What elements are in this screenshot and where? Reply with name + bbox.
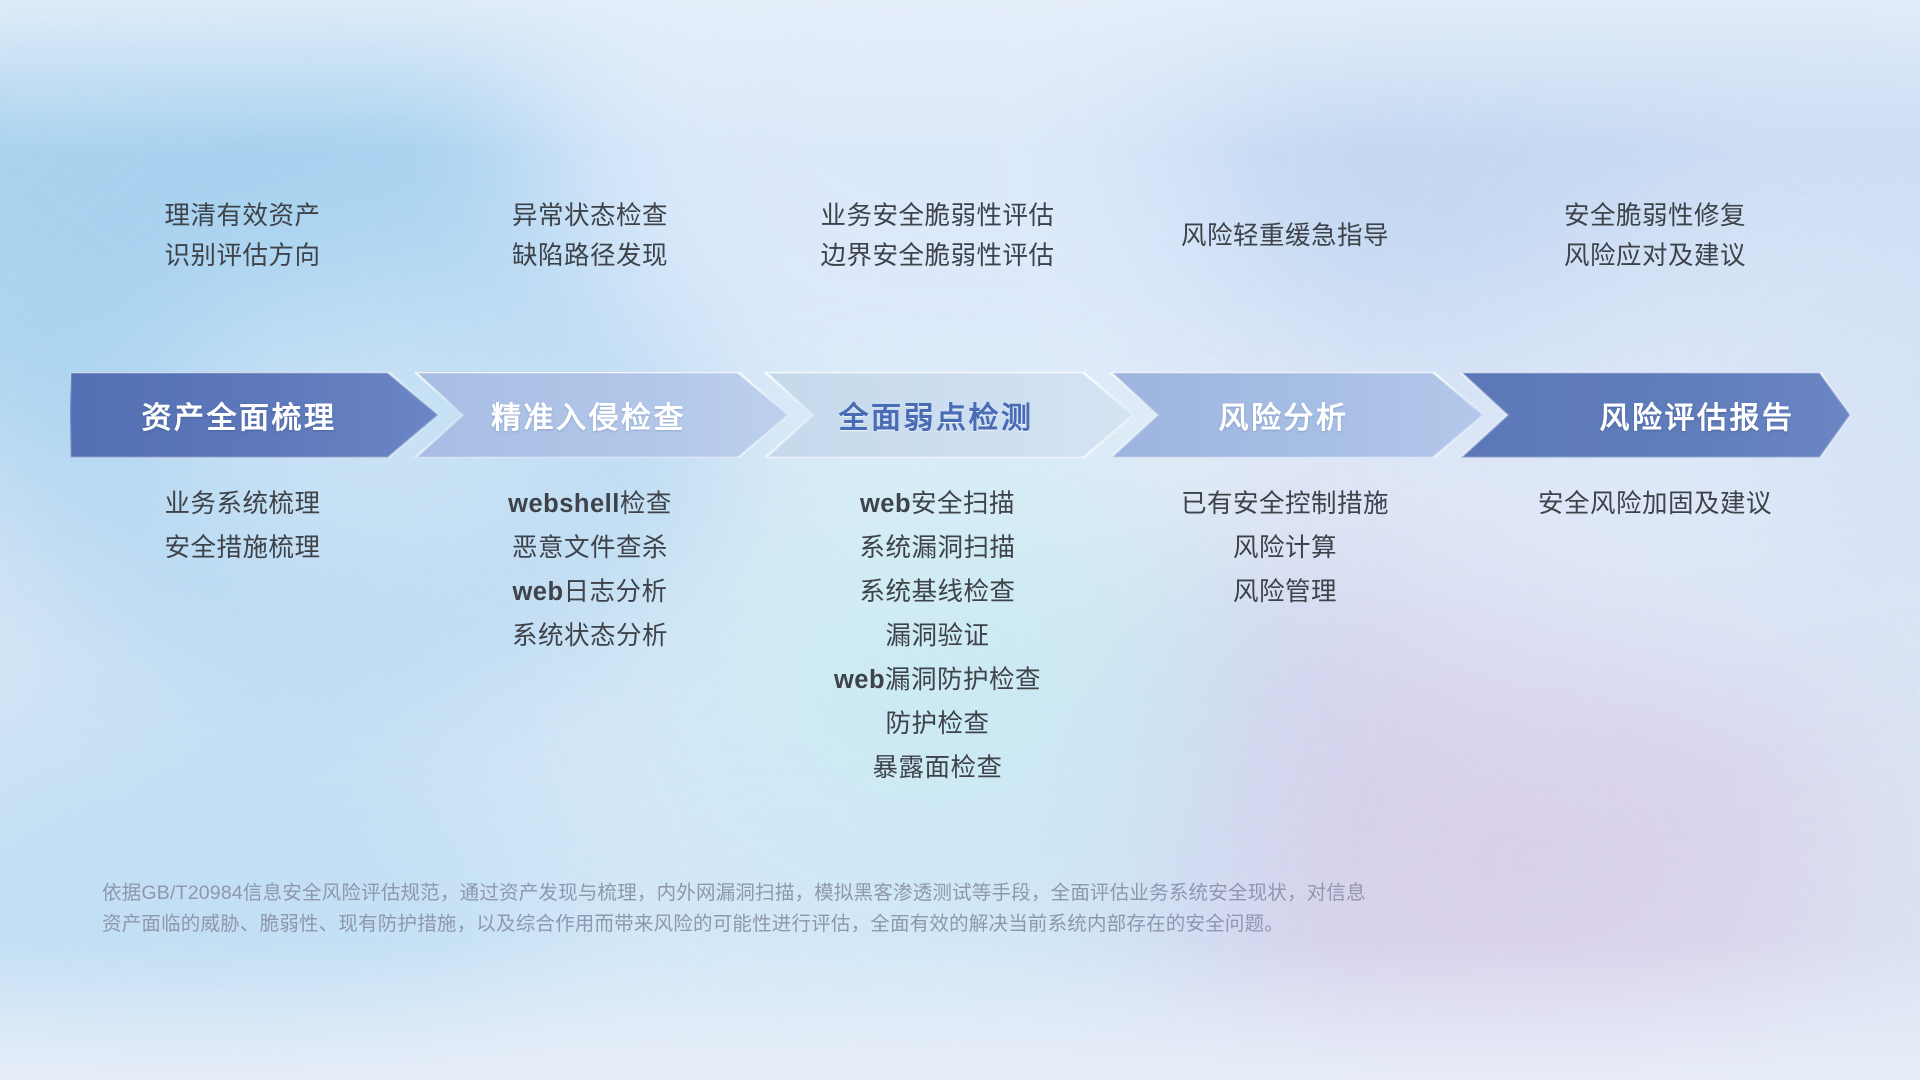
bottom-labels-stage-5: 安全风险加固及建议: [1460, 490, 1850, 518]
bottom-labels-stage-1: 业务系统梳理 安全措施梳理: [70, 490, 415, 562]
footer-line-1: 依据GB/T20984信息安全风险评估规范，通过资产发现与梳理，内外网漏洞扫描，…: [102, 878, 1602, 909]
top-labels-stage-4: 风险轻重缓急指导: [1110, 182, 1460, 290]
top-labels-stage-3: 业务安全脆弱性评估 边界安全脆弱性评估: [765, 182, 1110, 290]
top-label: 边界安全脆弱性评估: [820, 241, 1054, 271]
process-stage-arrow-2[interactable]: 精准入侵检查: [415, 372, 788, 458]
stage-title: 风险评估报告: [1460, 393, 1850, 437]
bottom-label-text: 安全扫描: [911, 490, 1015, 518]
bottom-label: 系统漏洞扫描: [859, 534, 1015, 562]
bottom-label: 暴露面检查: [872, 754, 1002, 782]
bottom-label: 风险计算: [1233, 534, 1337, 562]
slide-canvas: 理清有效资产 识别评估方向 异常状态检查 缺陷路径发现 业务安全脆弱性评估 边界…: [0, 0, 1920, 1080]
bottom-label: web漏洞防护检查: [834, 666, 1041, 694]
bottom-label-text: 日志分析: [564, 578, 668, 606]
top-label: 理清有效资产: [164, 201, 320, 231]
bottom-labels-row: 业务系统梳理 安全措施梳理 webshell检查 恶意文件查杀 web日志分析 …: [70, 490, 1850, 782]
top-label: 业务安全脆弱性评估: [820, 201, 1054, 231]
stage-title: 资产全面梳理: [70, 393, 438, 437]
bottom-label: 已有安全控制措施: [1181, 490, 1389, 518]
bottom-label: 安全风险加固及建议: [1538, 490, 1772, 518]
top-labels-stage-5: 安全脆弱性修复 风险应对及建议: [1460, 182, 1850, 290]
bottom-label: webshell检查: [508, 490, 672, 518]
bottom-label-bold: webshell: [508, 490, 620, 518]
bottom-label-text: 漏洞防护检查: [885, 666, 1041, 694]
bottom-label-text: 检查: [620, 490, 672, 518]
top-label: 识别评估方向: [164, 241, 320, 271]
stage-title: 风险分析: [1110, 393, 1483, 437]
bottom-label: 系统状态分析: [512, 622, 668, 650]
top-label: 缺陷路径发现: [512, 241, 668, 271]
bottom-label: web安全扫描: [860, 490, 1015, 518]
footer-line-2: 资产面临的威胁、脆弱性、现有防护措施，以及综合作用而带来风险的可能性进行评估，全…: [102, 909, 1602, 940]
footer-description: 依据GB/T20984信息安全风险评估规范，通过资产发现与梳理，内外网漏洞扫描，…: [102, 878, 1602, 940]
bottom-label-bold: web: [860, 490, 911, 518]
process-arrow-band: 资产全面梳理: [70, 372, 1850, 458]
process-stage-arrow-1[interactable]: 资产全面梳理: [70, 372, 438, 458]
bottom-label: 风险管理: [1233, 578, 1337, 606]
bottom-label: 业务系统梳理: [164, 490, 320, 518]
bottom-label: 恶意文件查杀: [512, 534, 668, 562]
bottom-label: 系统基线检查: [859, 578, 1015, 606]
top-label: 异常状态检查: [512, 201, 668, 231]
bottom-label-bold: web: [834, 666, 885, 694]
top-label: 风险应对及建议: [1564, 241, 1746, 271]
stage-title: 精准入侵检查: [415, 393, 788, 437]
top-labels-row: 理清有效资产 识别评估方向 异常状态检查 缺陷路径发现 业务安全脆弱性评估 边界…: [70, 182, 1850, 290]
top-labels-stage-1: 理清有效资产 识别评估方向: [70, 182, 415, 290]
stage-title: 全面弱点检测: [765, 393, 1133, 437]
top-label: 安全脆弱性修复: [1564, 201, 1746, 231]
bottom-label: 防护检查: [885, 710, 989, 738]
bottom-label: 安全措施梳理: [164, 534, 320, 562]
bottom-label-bold: web: [512, 578, 563, 606]
top-label: 风险轻重缓急指导: [1181, 221, 1389, 251]
bottom-labels-stage-4: 已有安全控制措施 风险计算 风险管理: [1110, 490, 1460, 606]
process-stage-arrow-3[interactable]: 全面弱点检测: [765, 372, 1133, 458]
top-labels-stage-2: 异常状态检查 缺陷路径发现: [415, 182, 765, 290]
process-stage-arrow-5[interactable]: 风险评估报告: [1460, 372, 1850, 458]
bottom-labels-stage-3: web安全扫描 系统漏洞扫描 系统基线检查 漏洞验证 web漏洞防护检查 防护检…: [765, 490, 1110, 782]
bottom-label: web日志分析: [512, 578, 667, 606]
bottom-labels-stage-2: webshell检查 恶意文件查杀 web日志分析 系统状态分析: [415, 490, 765, 650]
process-stage-arrow-4[interactable]: 风险分析: [1110, 372, 1483, 458]
bottom-label: 漏洞验证: [885, 622, 989, 650]
